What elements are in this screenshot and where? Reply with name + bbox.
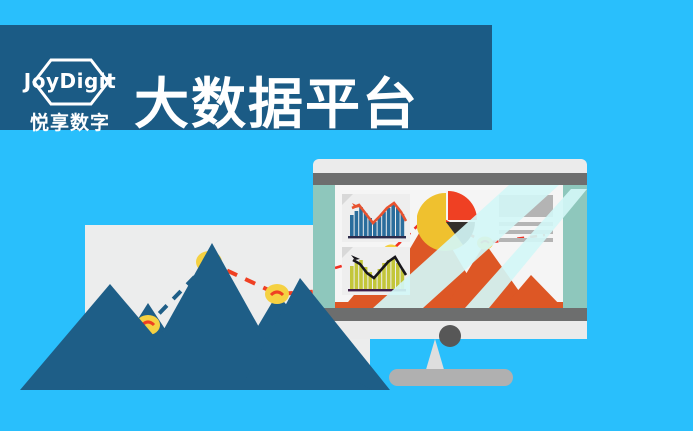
placeholder-line xyxy=(499,222,553,226)
screen-right-strip xyxy=(563,185,587,308)
logo-subtitle: 悦享数字 xyxy=(14,108,126,135)
pie-slice-red xyxy=(448,191,477,220)
placeholder-line xyxy=(499,238,553,242)
placeholder-line xyxy=(499,230,553,234)
poster-canvas: JoyDigit 悦享数字 大数据平台 xyxy=(0,0,693,431)
text-placeholder-block xyxy=(499,195,553,242)
logo-wordmark: JoyDigit xyxy=(14,69,126,93)
header-banner: JoyDigit 悦享数字 大数据平台 xyxy=(0,25,492,130)
logo: JoyDigit 悦享数字 xyxy=(14,58,126,136)
blue-bar-chart-svg xyxy=(342,194,410,242)
page-title: 大数据平台 xyxy=(134,73,419,135)
fg-mountain-base xyxy=(76,382,372,390)
blue-bar-chart-card xyxy=(342,194,410,242)
blue-card-axis xyxy=(348,236,406,238)
foreground-mountains xyxy=(0,240,460,395)
monitor-top-bar xyxy=(313,173,587,185)
placeholder-image xyxy=(499,195,553,217)
orange-data-node-3 xyxy=(477,237,493,250)
